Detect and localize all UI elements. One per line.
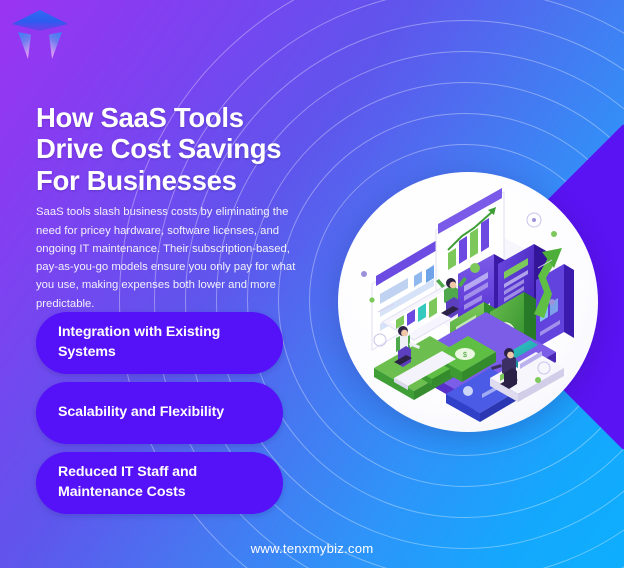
footer-website-url[interactable]: www.tenxmybiz.com [0, 541, 624, 556]
benefit-pill-label: Reduced IT Staff and Maintenance Costs [58, 463, 261, 502]
body-paragraph: SaaS tools slash business costs by elimi… [36, 203, 308, 313]
benefit-pill-list: Integration with Existing Systems Scalab… [36, 312, 284, 522]
tenx-t-logo-icon [8, 6, 72, 68]
poster-canvas: How SaaS Tools Drive Cost Savings For Bu… [0, 0, 624, 568]
saas-dashboard-isometric-illustration: $ [338, 172, 598, 432]
benefit-pill-label: Scalability and Flexibility [58, 403, 224, 423]
page-title-line-1: How SaaS Tools [36, 102, 336, 133]
page-title-line-3: For Businesses [36, 165, 336, 196]
benefit-pill-integration[interactable]: Integration with Existing Systems [36, 312, 283, 374]
benefit-pill-label: Integration with Existing Systems [58, 323, 261, 362]
svg-text:$: $ [463, 352, 467, 359]
benefit-pill-scalability[interactable]: Scalability and Flexibility [36, 382, 283, 444]
benefit-pill-reduced-it-staff[interactable]: Reduced IT Staff and Maintenance Costs [36, 452, 283, 514]
page-title: How SaaS Tools Drive Cost Savings For Bu… [36, 102, 336, 195]
page-title-line-2: Drive Cost Savings [36, 133, 336, 164]
